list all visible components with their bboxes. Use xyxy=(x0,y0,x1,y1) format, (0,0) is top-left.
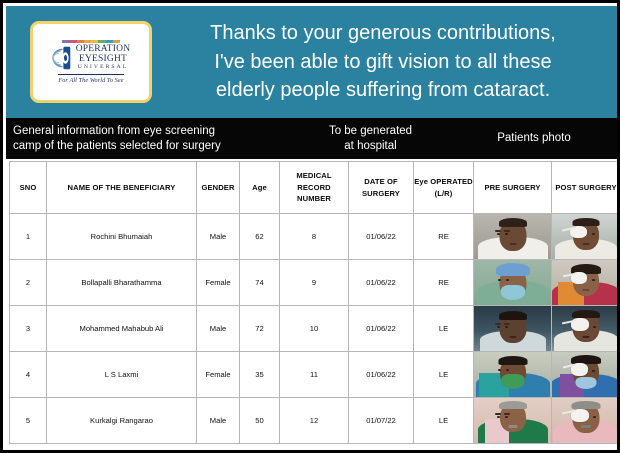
cell-name: Mohammed Mahabub Ali xyxy=(47,306,197,352)
cell-sno: 2 xyxy=(10,260,47,306)
table-row: 2 Bollapalli Bharathamma Female 74 9 01/… xyxy=(10,260,620,306)
banner-message-line-2: I've been able to gift vision to all the… xyxy=(156,48,610,76)
cell-medical-record-number: 12 xyxy=(280,398,349,444)
organization-logo: OPERATION EYESIGHT UNIVERSAL For All The… xyxy=(30,21,152,103)
cell-name: Bollapalli Bharathamma xyxy=(47,260,197,306)
man-green-jacket-pre-surgery-photo xyxy=(474,398,551,443)
table-row: 4 L S Laxmi Female 35 11 01/06/22 LE xyxy=(10,352,620,398)
cell-age: 62 xyxy=(240,214,280,260)
table-row: 1 Rochini Bhumaiah Male 62 8 01/06/22 RE xyxy=(10,214,620,260)
column-header-eye-line-2: (L/R) xyxy=(414,188,473,199)
table-row: 5 Kurkalgi Rangarao Male 50 12 01/07/22 … xyxy=(10,398,620,444)
cell-medical-record-number: 9 xyxy=(280,260,349,306)
logo-line-3: UNIVERSAL xyxy=(78,65,129,71)
cell-name: L S Laxmi xyxy=(47,352,197,398)
slide-root: OPERATION EYESIGHT UNIVERSAL For All The… xyxy=(0,0,620,453)
group-header-photos-label: Patients photo xyxy=(497,131,571,146)
cell-sno: 4 xyxy=(10,352,47,398)
banner: OPERATION EYESIGHT UNIVERSAL For All The… xyxy=(6,6,620,118)
cell-age: 35 xyxy=(240,352,280,398)
cell-post-surgery-photo xyxy=(552,214,620,260)
cell-gender: Male xyxy=(197,214,240,260)
group-header-band: General information from eye screening c… xyxy=(6,118,620,159)
cell-gender: Female xyxy=(197,260,240,306)
column-header-post-surgery: POST SURGERY xyxy=(552,162,620,214)
cell-post-surgery-photo xyxy=(552,306,620,352)
woman-eye-patch-blue-saree-post-surgery-photo xyxy=(552,352,620,397)
cell-medical-record-number: 8 xyxy=(280,214,349,260)
column-header-dos-line-2: SURGERY xyxy=(349,188,413,199)
cell-post-surgery-photo xyxy=(552,352,620,398)
cell-date-of-surgery: 01/06/22 xyxy=(349,352,414,398)
banner-message-line-1: Thanks to your generous contributions, xyxy=(156,19,610,47)
logo-divider xyxy=(58,74,124,75)
group-header-general-line-2: camp of the patients selected for surger… xyxy=(13,139,221,154)
logo-line-2: EYESIGHT xyxy=(79,55,127,65)
column-header-pre-surgery: PRE SURGERY xyxy=(474,162,552,214)
cell-age: 72 xyxy=(240,306,280,352)
cell-pre-surgery-photo xyxy=(474,352,552,398)
cell-sno: 3 xyxy=(10,306,47,352)
cell-eye-operated: LE xyxy=(414,306,474,352)
cell-name: Rochini Bhumaiah xyxy=(47,214,197,260)
woman-surgical-cap-mask-pre-surgery-photo xyxy=(474,260,551,305)
elderly-man-eye-patch-post-surgery-photo xyxy=(552,306,620,351)
woman-saree-eye-patch-post-surgery-photo xyxy=(552,260,620,305)
cell-post-surgery-photo xyxy=(552,398,620,444)
cell-name: Kurkalgi Rangarao xyxy=(47,398,197,444)
column-header-mrn-line-3: NUMBER xyxy=(280,193,348,204)
cell-date-of-surgery: 01/07/22 xyxy=(349,398,414,444)
group-header-hospital: To be generated at hospital xyxy=(293,118,448,159)
group-header-hospital-line-2: at hospital xyxy=(329,139,412,154)
cell-eye-operated: LE xyxy=(414,398,474,444)
elderly-man-white-shirt-eye-patch-post-surgery-photo xyxy=(552,214,620,259)
cell-date-of-surgery: 01/06/22 xyxy=(349,214,414,260)
eye-icon xyxy=(52,45,73,71)
elderly-man-dark-background-pre-surgery-photo xyxy=(474,306,551,351)
woman-green-mask-blue-saree-pre-surgery-photo xyxy=(474,352,551,397)
elderly-man-white-shirt-pre-surgery-photo xyxy=(474,214,551,259)
cell-sno: 5 xyxy=(10,398,47,444)
column-header-mrn-line-1: MEDICAL xyxy=(280,170,348,181)
column-header-medical-record-number: MEDICAL RECORD NUMBER xyxy=(280,162,349,214)
column-header-mrn-line-2: RECORD xyxy=(280,182,348,193)
group-header-general-line-1: General information from eye screening xyxy=(13,124,221,139)
column-header-name: NAME OF THE BENEFICIARY xyxy=(47,162,197,214)
column-header-eye-line-1: Eye OPERATED xyxy=(414,176,473,187)
patients-table: SNO NAME OF THE BENEFICIARY GENDER Age M… xyxy=(9,161,620,444)
column-header-date-of-surgery: DATE OF SURGERY xyxy=(349,162,414,214)
column-header-gender: GENDER xyxy=(197,162,240,214)
cell-eye-operated: LE xyxy=(414,352,474,398)
cell-post-surgery-photo xyxy=(552,260,620,306)
cell-medical-record-number: 10 xyxy=(280,306,349,352)
cell-pre-surgery-photo xyxy=(474,306,552,352)
cell-age: 50 xyxy=(240,398,280,444)
column-header-dos-line-1: DATE OF xyxy=(349,176,413,187)
group-header-photos: Patients photo xyxy=(448,118,620,159)
cell-date-of-surgery: 01/06/22 xyxy=(349,306,414,352)
group-header-hospital-line-1: To be generated xyxy=(329,124,412,139)
banner-message-line-3: elderly people suffering from cataract. xyxy=(156,76,610,104)
logo-color-bars xyxy=(62,40,120,43)
cell-pre-surgery-photo xyxy=(474,398,552,444)
cell-gender: Female xyxy=(197,352,240,398)
man-eye-patch-pink-shirt-post-surgery-photo xyxy=(552,398,620,443)
cell-pre-surgery-photo xyxy=(474,214,552,260)
cell-gender: Male xyxy=(197,306,240,352)
table-row: 3 Mohammed Mahabub Ali Male 72 10 01/06/… xyxy=(10,306,620,352)
cell-pre-surgery-photo xyxy=(474,260,552,306)
column-header-sno: SNO xyxy=(10,162,47,214)
cell-date-of-surgery: 01/06/22 xyxy=(349,260,414,306)
column-header-age: Age xyxy=(240,162,280,214)
cell-medical-record-number: 11 xyxy=(280,352,349,398)
logo-tagline: For All The World To See xyxy=(58,77,123,84)
banner-message: Thanks to your generous contributions, I… xyxy=(152,19,620,104)
cell-age: 74 xyxy=(240,260,280,306)
cell-sno: 1 xyxy=(10,214,47,260)
group-header-general: General information from eye screening c… xyxy=(13,118,293,159)
cell-gender: Male xyxy=(197,398,240,444)
cell-eye-operated: RE xyxy=(414,214,474,260)
column-header-eye-operated: Eye OPERATED (L/R) xyxy=(414,162,474,214)
cell-eye-operated: RE xyxy=(414,260,474,306)
table-header-row: SNO NAME OF THE BENEFICIARY GENDER Age M… xyxy=(10,162,620,214)
